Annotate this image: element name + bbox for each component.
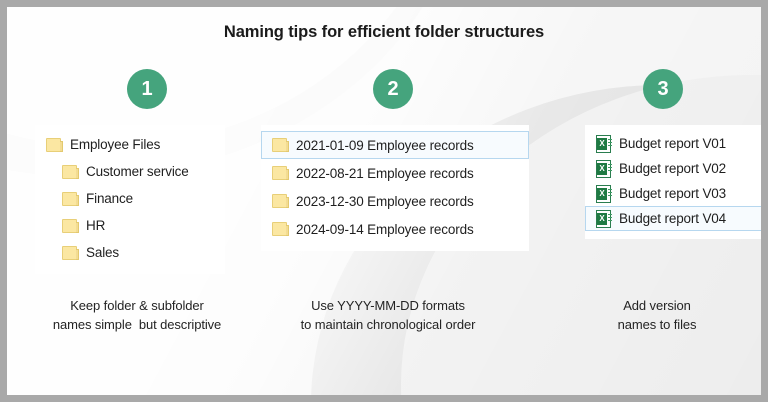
folder-row-label: 2022-08-21 Employee records — [296, 166, 474, 181]
excel-file-icon: X — [596, 210, 613, 228]
tip-caption-3: Add version names to files — [541, 297, 768, 335]
folder-row[interactable]: Customer service — [35, 158, 225, 185]
folder-icon — [46, 137, 63, 153]
tip-column-3: 3 X Budget report V01 X — [547, 69, 768, 239]
infographic-content: Naming tips for efficient folder structu… — [7, 7, 761, 395]
folder-row[interactable]: 2022-08-21 Employee records — [261, 159, 529, 187]
step-badge-3: 3 — [643, 69, 683, 109]
folder-icon — [62, 218, 79, 234]
excel-icon-glyph: X — [597, 188, 607, 200]
folder-icon — [272, 165, 289, 181]
tip-column-2: 2 2021-01-09 Employee records 2022-08-21… — [255, 69, 517, 251]
excel-file-icon: X — [596, 160, 613, 178]
folder-icon — [62, 245, 79, 261]
folder-row-label: Sales — [86, 245, 119, 260]
folder-icon — [62, 191, 79, 207]
file-row[interactable]: X Budget report V01 — [585, 131, 767, 156]
step-badge-2: 2 — [373, 69, 413, 109]
file-explorer-panel-1[interactable]: Employee Files Customer service Finance — [35, 125, 225, 274]
tip-column-1: 1 Employee Files Customer service — [15, 69, 255, 274]
folder-row[interactable]: HR — [35, 212, 225, 239]
folder-row-label: 2021-01-09 Employee records — [296, 138, 474, 153]
folder-icon — [272, 137, 289, 153]
excel-file-icon: X — [596, 135, 613, 153]
step-badge-1: 1 — [127, 69, 167, 109]
file-row-label: Budget report V02 — [619, 161, 726, 176]
excel-icon-glyph: X — [597, 213, 607, 225]
file-row[interactable]: X Budget report V02 — [585, 156, 767, 181]
folder-row[interactable]: Finance — [35, 185, 225, 212]
badge-row-1: 1 — [15, 69, 255, 109]
file-row-label: Budget report V01 — [619, 136, 726, 151]
folder-row[interactable]: Sales — [35, 239, 225, 266]
folder-row[interactable]: 2023-12-30 Employee records — [261, 187, 529, 215]
folder-row[interactable]: 2024-09-14 Employee records — [261, 215, 529, 243]
infographic-canvas: Naming tips for efficient folder structu… — [0, 0, 768, 402]
file-row[interactable]: X Budget report V03 — [585, 181, 767, 206]
file-row-label: Budget report V03 — [619, 186, 726, 201]
folder-row-label: Employee Files — [70, 137, 160, 152]
folder-row-label: Finance — [86, 191, 133, 206]
folder-row-label: Customer service — [86, 164, 189, 179]
tip-caption-2: Use YYYY-MM-DD formats to maintain chron… — [259, 297, 517, 335]
folder-row-label: 2024-09-14 Employee records — [296, 222, 474, 237]
folder-icon — [272, 221, 289, 237]
folder-row-label: HR — [86, 218, 105, 233]
folder-icon — [272, 193, 289, 209]
badge-row-2: 2 — [255, 69, 517, 109]
file-row-label: Budget report V04 — [619, 211, 726, 226]
folder-icon — [62, 164, 79, 180]
page-title: Naming tips for efficient folder structu… — [7, 23, 761, 42]
folder-row-label: 2023-12-30 Employee records — [296, 194, 474, 209]
excel-icon-glyph: X — [597, 138, 607, 150]
tip-caption-1: Keep folder & subfolder names simple but… — [15, 297, 259, 335]
excel-file-icon: X — [596, 185, 613, 203]
excel-icon-glyph: X — [597, 163, 607, 175]
badge-row-3: 3 — [547, 69, 768, 109]
folder-row-selected[interactable]: 2021-01-09 Employee records — [261, 131, 529, 159]
file-explorer-panel-2[interactable]: 2021-01-09 Employee records 2022-08-21 E… — [261, 125, 529, 251]
file-explorer-panel-3[interactable]: X Budget report V01 X Budget report V02 — [585, 125, 767, 239]
file-row-selected[interactable]: X Budget report V04 — [585, 206, 767, 231]
folder-row[interactable]: Employee Files — [35, 131, 225, 158]
